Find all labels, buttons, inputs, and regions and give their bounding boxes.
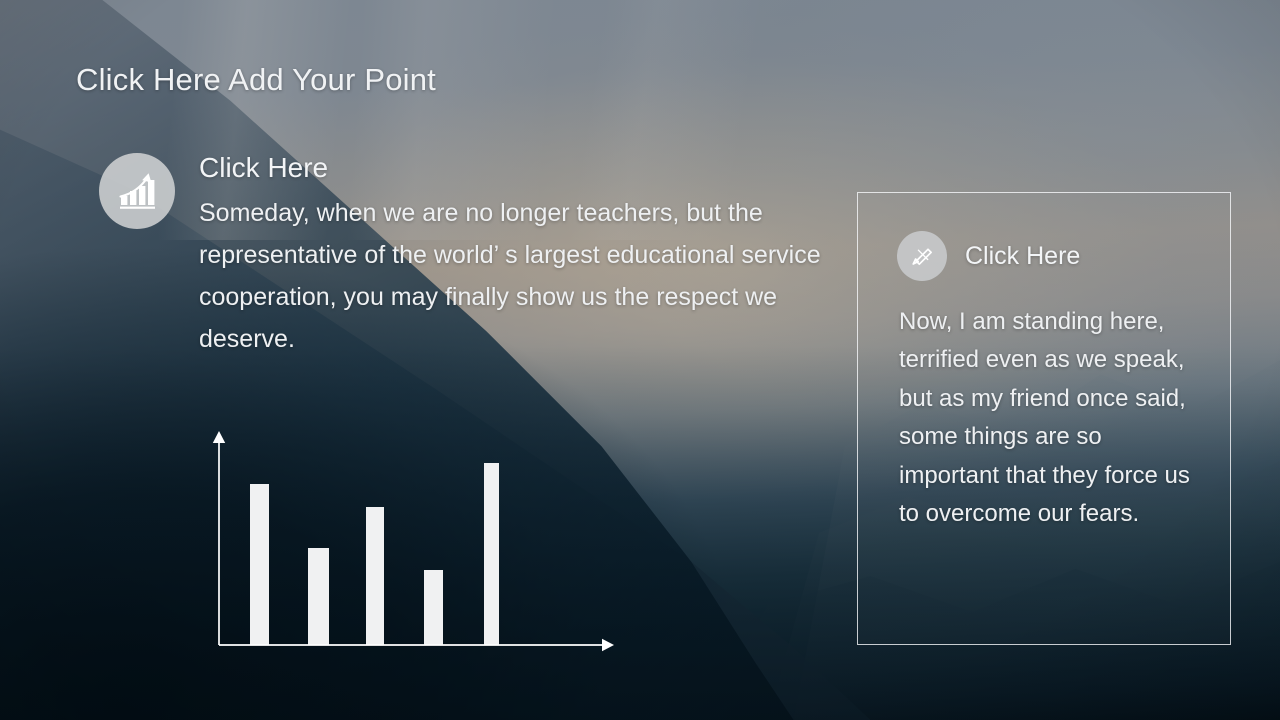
left-heading[interactable]: Click Here: [199, 150, 859, 185]
growth-chart-icon: [115, 169, 159, 213]
pen-badge: [897, 231, 947, 281]
panel-body-text[interactable]: Now, I am standing here, terrified even …: [899, 303, 1197, 533]
pen-icon: [907, 239, 937, 274]
bar-1: [250, 484, 269, 645]
panel-heading[interactable]: Click Here: [965, 242, 1080, 271]
right-panel[interactable]: Click Here Now, I am standing here, terr…: [857, 192, 1231, 645]
x-axis: [219, 639, 614, 651]
page-title[interactable]: Click Here Add Your Point: [76, 62, 436, 98]
bar-3: [366, 507, 384, 645]
bar-chart[interactable]: [205, 425, 625, 660]
growth-chart-badge: [99, 153, 175, 229]
bar-2: [308, 548, 329, 645]
left-body-text[interactable]: Someday, when we are no longer teachers,…: [199, 192, 849, 360]
chart-bars: [250, 463, 499, 645]
panel-header: Click Here: [897, 231, 1080, 281]
y-axis: [213, 431, 225, 645]
bar-5: [484, 463, 499, 645]
slide-canvas: Click Here Add Your Point: [0, 0, 1280, 720]
left-content-block: Click Here Someday, when we are no longe…: [99, 150, 859, 360]
bar-4: [424, 570, 443, 645]
